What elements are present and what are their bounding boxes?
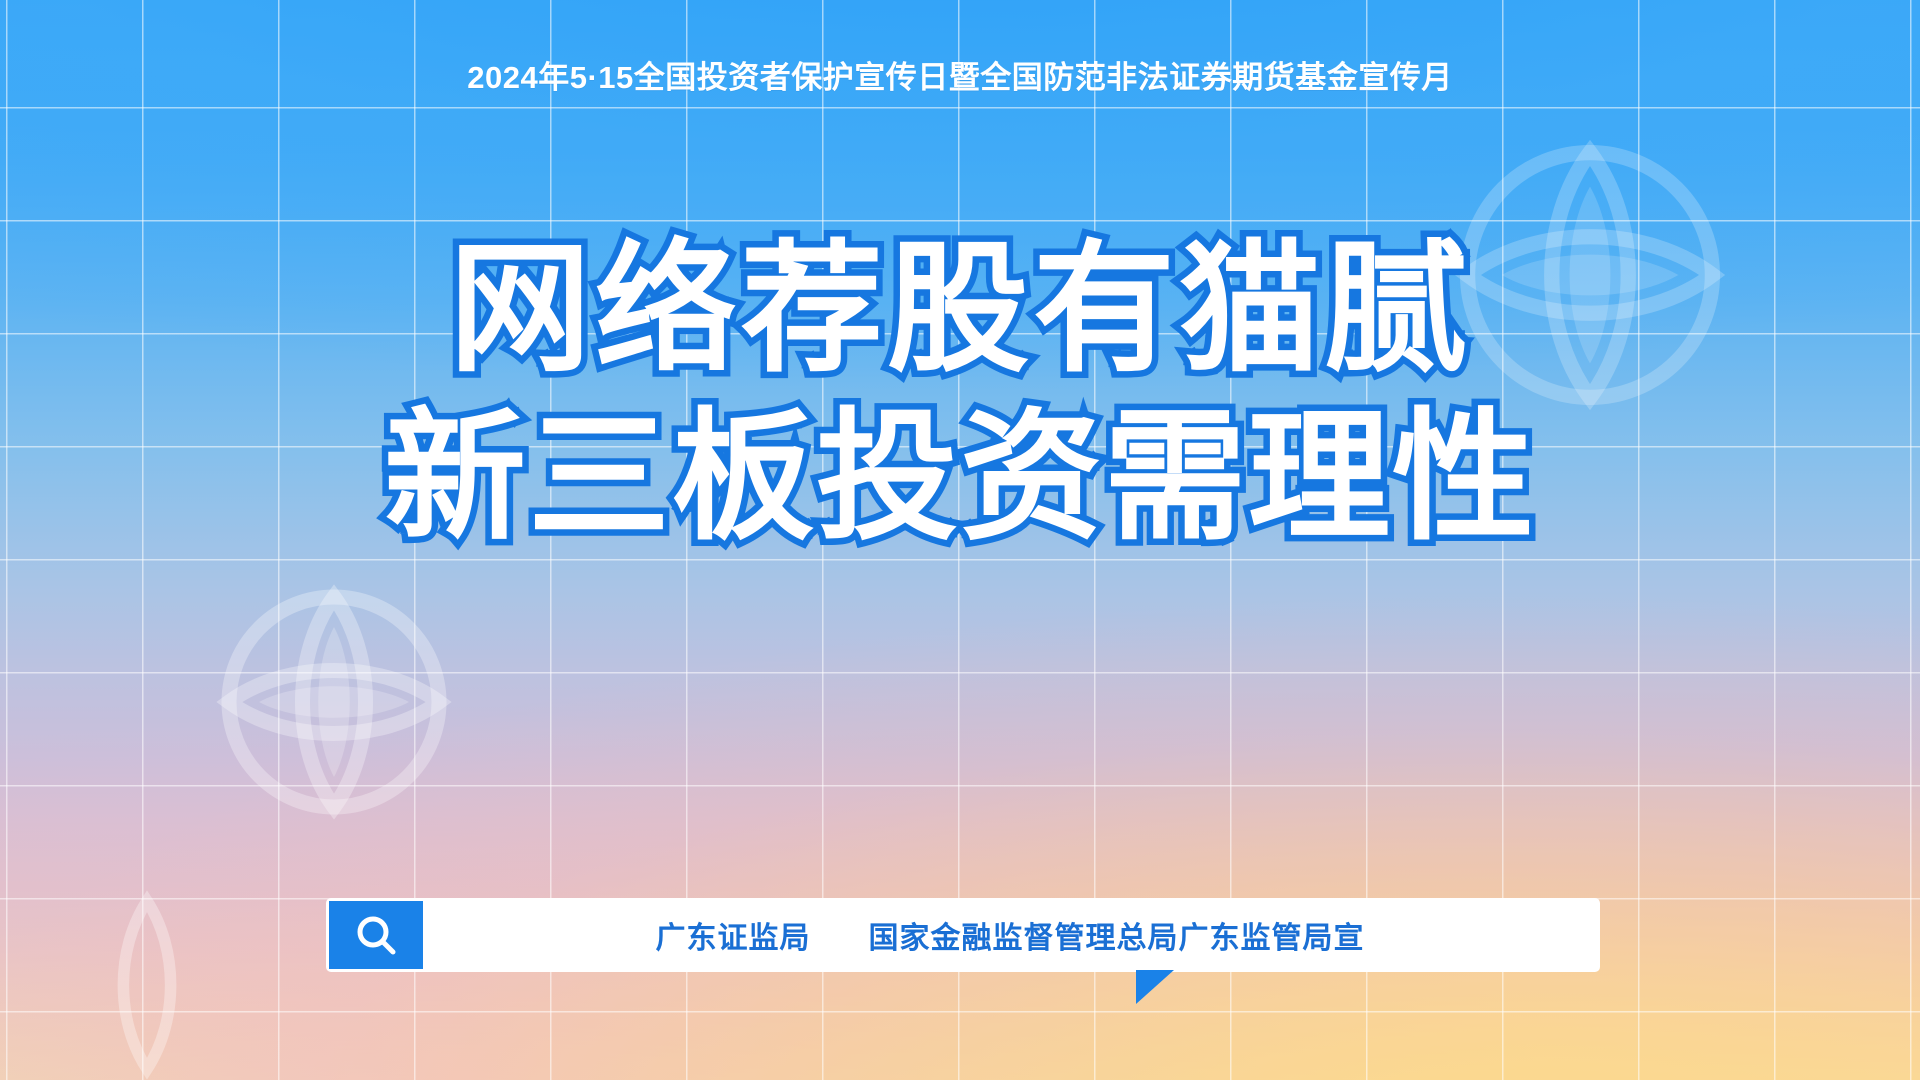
title-line-1: 网络荐股有猫腻 <box>0 226 1920 394</box>
footer-org-left: 广东证监局 <box>656 913 811 957</box>
title-line-2: 新三板投资需理性 <box>0 394 1920 562</box>
footer-org-right: 国家金融监督管理总局广东监管局宣 <box>869 913 1365 957</box>
footer-organizations: 广东证监局 国家金融监督管理总局广东监管局宣 <box>423 901 1597 969</box>
search-icon <box>329 901 423 969</box>
footer-pointer-triangle <box>1136 970 1174 1004</box>
footer-banner: 广东证监局 国家金融监督管理总局广东监管局宣 <box>326 898 1600 972</box>
page-title: 网络荐股有猫腻 新三板投资需理性 <box>0 226 1920 562</box>
page-header-title: 2024年5·15全国投资者保护宣传日暨全国防范非法证券期货基金宣传月 <box>0 58 1920 98</box>
poster-canvas: 2024年5·15全国投资者保护宣传日暨全国防范非法证券期货基金宣传月 网络荐股… <box>0 0 1920 1080</box>
